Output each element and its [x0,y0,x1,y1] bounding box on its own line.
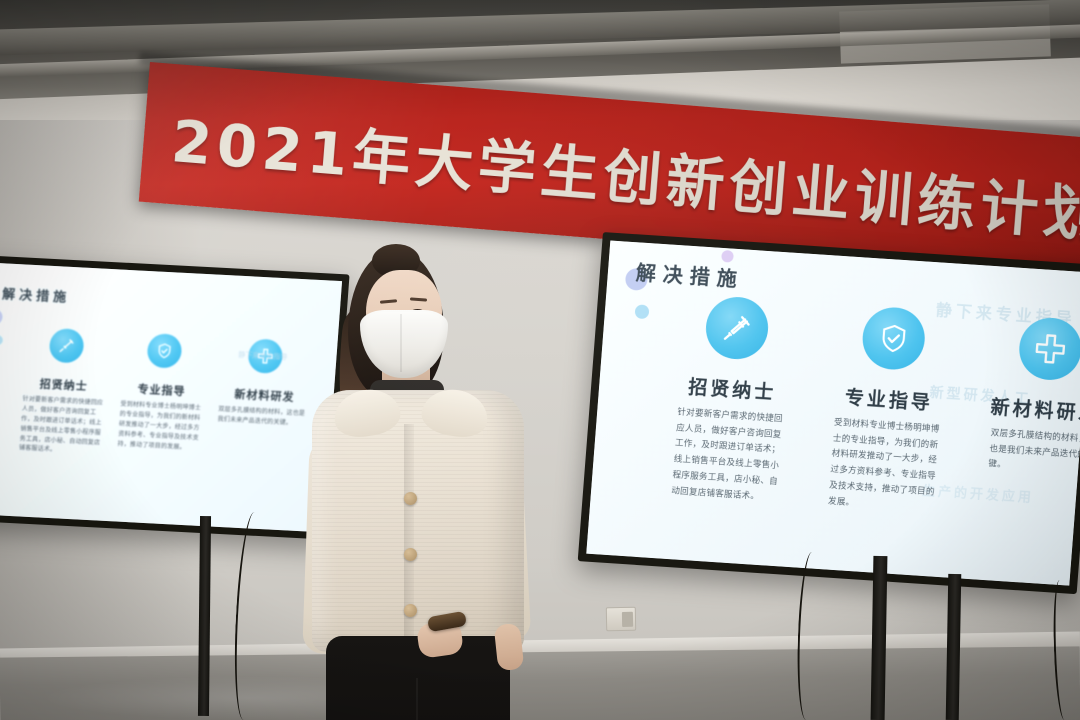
right-display-stand-leg-2 [946,574,962,720]
shield-check-icon [860,306,927,372]
left-column-3-body: 双层多孔膜结构的材料，这也是我们未来产品迭代的关键。 [217,405,306,429]
left-column-2-title: 专业指导 [111,379,212,400]
hand-right [494,623,525,671]
eyebrow-left [380,299,397,303]
right-slide-title: 解决措施 [635,256,745,292]
right-display-screen: 解决措施 静下来专业指导 新型研发人工 生产的开发应用 [586,241,1080,586]
right-column-2-body: 受到材料专业博士杨明坤博士的专业指导，为我们的新材料研发推动了一大步，经过多方资… [827,416,948,518]
trousers [326,636,510,720]
left-column-1-title: 招贤纳士 [13,374,114,395]
left-display-stand-leg [198,516,211,716]
outlet-socket [622,612,633,627]
right-slide: 解决措施 静下来专业指导 新型研发人工 生产的开发应用 [586,241,1080,586]
right-column-3-body: 双层多孔膜结构的材料，这也是我们未来产品迭代的关键。 [988,426,1080,481]
jacket-button-2 [404,548,417,561]
left-column-2: 专业指导 受到材料专业博士杨明坤博士的专业指导，为我们的新材料研发推动了一大步，… [116,331,216,336]
syringe-icon [704,295,771,361]
left-slide-title: 解决措施 [2,283,71,306]
left-column-1-body: 针对要新客户需求的快捷回应人员，做好客户咨询回复工作，及时跟进订单话术；线上销售… [19,395,105,458]
presenter [300,248,560,720]
right-column-3-title: 新材料研发 [970,391,1080,428]
left-display-screen: 解决措施 招贤纳士 针对要新客户需求的快捷回应人员，做好客户咨询回复工作，及时跟… [0,262,342,532]
shield-check-icon [146,333,182,369]
decor-germ-icon [721,250,734,263]
right-display-stand-leg-1 [871,556,888,720]
left-column-1: 招贤纳士 针对要新客户需求的快捷回应人员，做好客户咨询回复工作，及时跟进订单话术… [18,326,118,331]
decor-germ-icon [0,309,3,326]
jacket-button-3 [404,604,417,617]
wall-outlet [606,607,636,632]
left-column-2-body: 受到材料专业博士杨明坤博士的专业指导，为我们的新材料研发推动了一大步，经过多方资… [117,400,203,454]
right-column-1-title: 招贤纳士 [657,370,809,407]
decor-germ-icon [0,335,3,345]
right-column-1-body: 针对要新客户需求的快捷回应人员，做好客户咨询回复工作，及时跟进订单话术；线上销售… [671,405,792,507]
left-ghost-text-1: 静下来专业指导 [238,350,288,363]
eyebrow-right [410,297,427,301]
jacket-button-1 [404,492,417,505]
trouser-seam [416,678,418,720]
left-slide: 解决措施 招贤纳士 针对要新客户需求的快捷回应人员，做好客户咨询回复工作，及时跟… [0,262,342,532]
presentation-room-photo: 2021年大学生创新创业训练计划项目中期检查汇 解决措施 [0,0,1080,720]
right-display[interactable]: 解决措施 静下来专业指导 新型研发人工 生产的开发应用 [578,232,1080,594]
right-column-1: 招贤纳士 针对要新客户需求的快捷回应人员，做好客户咨询回复工作，及时跟进订单话术… [665,292,815,302]
syringe-icon [48,328,84,364]
decor-germ-icon [634,304,649,319]
left-display[interactable]: 解决措施 招贤纳士 针对要新客户需求的快捷回应人员，做好客户咨询回复工作，及时跟… [0,255,350,540]
